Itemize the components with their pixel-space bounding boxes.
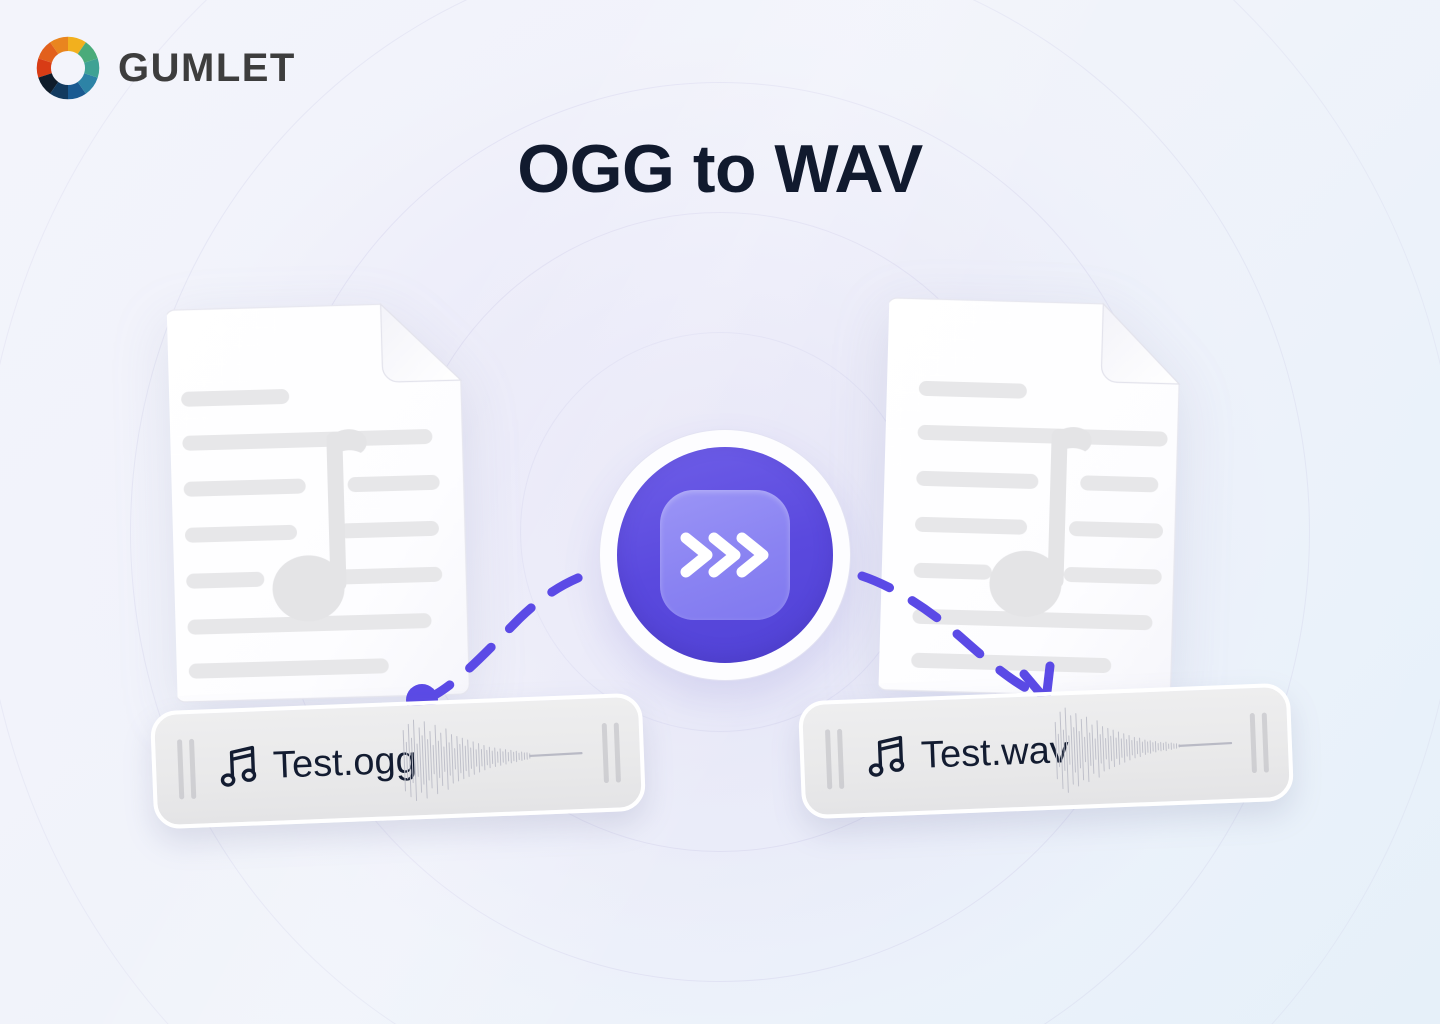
target-file-chip[interactable]: Test.wav <box>798 683 1294 820</box>
audio-waveform-icon <box>401 698 605 816</box>
double-chevron-right-icon <box>676 526 774 584</box>
document-sheet-icon <box>878 284 1189 702</box>
source-audio-document <box>166 288 477 706</box>
source-file-name: Test.ogg <box>272 739 417 787</box>
convert-button-circle <box>617 447 833 663</box>
grip-lines-icon <box>177 739 196 800</box>
grip-lines-icon-right <box>602 723 621 784</box>
brand-name: GUMLET <box>118 48 296 88</box>
grip-lines-icon <box>825 729 844 790</box>
music-note-icon <box>866 734 908 780</box>
poster-canvas: GUMLET OGG to WAV <box>0 0 1440 1024</box>
source-file-chip[interactable]: Test.ogg <box>150 693 646 830</box>
music-note-icon <box>218 744 260 790</box>
target-file-name: Test.wav <box>920 729 1069 778</box>
document-sheet-icon <box>166 288 477 706</box>
convert-button[interactable] <box>600 430 850 680</box>
audio-waveform-icon <box>1053 688 1253 805</box>
gumlet-color-wheel-icon <box>34 34 102 102</box>
grip-lines-icon-right <box>1250 713 1269 774</box>
target-audio-document <box>878 284 1189 702</box>
page-title: OGG to WAV <box>0 130 1440 208</box>
brand-logo[interactable]: GUMLET <box>34 34 296 102</box>
convert-button-tile <box>660 490 790 620</box>
